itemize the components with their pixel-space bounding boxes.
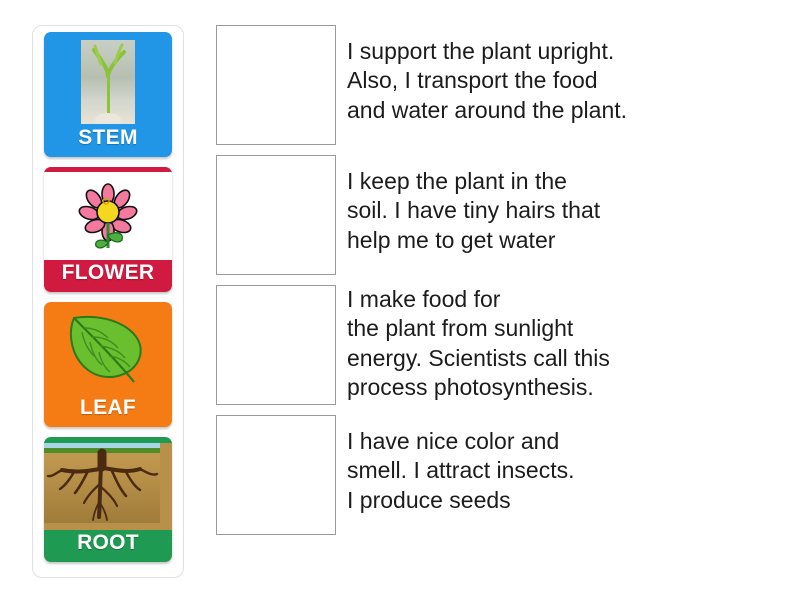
plant-stem-icon <box>81 40 135 124</box>
leaf-art-area <box>44 302 172 395</box>
clue-text-4: I have nice color and smell. I attract i… <box>347 415 776 515</box>
pink-flower-icon <box>72 180 144 252</box>
answer-row: I make food for the plant from sunlight … <box>216 285 776 405</box>
root-art-area <box>44 437 172 530</box>
tree-roots-icon <box>44 443 160 523</box>
green-leaf-icon <box>60 306 156 392</box>
answer-rows: I support the plant upright. Also, I tra… <box>216 25 776 545</box>
dropzone-4[interactable] <box>216 415 336 535</box>
draggable-tile-flower[interactable]: FLOWER <box>44 167 172 292</box>
match-up-activity: STEM <box>0 0 800 600</box>
answer-row: I support the plant upright. Also, I tra… <box>216 25 776 145</box>
tile-label-leaf: LEAF <box>44 395 172 427</box>
draggable-tile-stem[interactable]: STEM <box>44 32 172 157</box>
tile-label-flower: FLOWER <box>44 260 172 292</box>
flower-art-area <box>44 167 172 260</box>
tile-label-stem: STEM <box>44 125 172 157</box>
draggable-tile-leaf[interactable]: LEAF <box>44 302 172 427</box>
answer-row: I keep the plant in the soil. I have tin… <box>216 155 776 275</box>
tile-label-root: ROOT <box>44 530 172 562</box>
clue-text-3: I make food for the plant from sunlight … <box>347 285 776 403</box>
dropzone-3[interactable] <box>216 285 336 405</box>
clue-text-2: I keep the plant in the soil. I have tin… <box>347 155 776 255</box>
dropzone-1[interactable] <box>216 25 336 145</box>
dropzone-2[interactable] <box>216 155 336 275</box>
stem-photo-icon <box>44 32 172 125</box>
clue-text-1: I support the plant upright. Also, I tra… <box>347 25 776 125</box>
answer-row: I have nice color and smell. I attract i… <box>216 415 776 535</box>
tile-tray: STEM <box>32 25 184 578</box>
draggable-tile-root[interactable]: ROOT <box>44 437 172 562</box>
